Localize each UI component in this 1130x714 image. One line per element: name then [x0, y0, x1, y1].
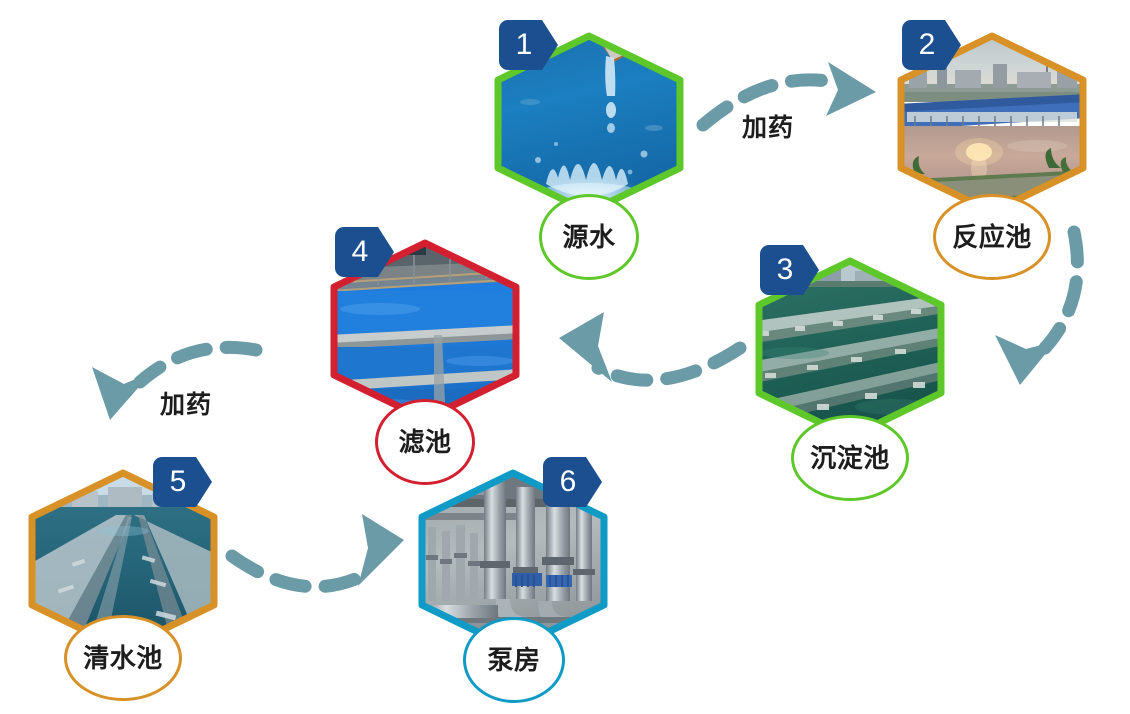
process-node-6[interactable]: 6 泵房 — [418, 455, 608, 703]
node-label-1: 源水 — [562, 224, 615, 250]
node-number-1: 1 — [498, 18, 560, 72]
node-caption-3: 沉淀池 — [791, 415, 909, 501]
process-flow-diagram: 加药 加药 — [0, 0, 1130, 714]
node-badge-3: 3 — [759, 243, 821, 297]
connector-3-to-4 — [559, 312, 740, 382]
process-node-3[interactable]: 3 沉淀池 — [755, 243, 945, 501]
node-caption-2: 反应池 — [933, 194, 1051, 280]
connector-label-dosing-2: 加药 — [160, 385, 212, 421]
node-badge-1: 1 — [498, 18, 560, 72]
process-node-5[interactable]: 5 清水池 — [28, 455, 218, 701]
node-number-5: 5 — [152, 455, 214, 509]
process-node-1[interactable]: 1 源水 — [494, 18, 684, 280]
node-label-4: 滤池 — [398, 429, 451, 455]
node-caption-6: 泵房 — [463, 617, 565, 703]
node-number-4: 4 — [334, 225, 396, 279]
node-badge-5: 5 — [152, 455, 214, 509]
node-caption-5: 清水池 — [64, 615, 182, 701]
node-badge-6: 6 — [542, 455, 604, 509]
node-caption-1: 源水 — [539, 194, 639, 280]
node-badge-2: 2 — [901, 18, 963, 72]
node-number-3: 3 — [759, 243, 821, 297]
node-badge-4: 4 — [334, 225, 396, 279]
connector-5-to-6 — [232, 514, 404, 587]
node-label-2: 反应池 — [952, 224, 1032, 250]
process-node-4[interactable]: 4 滤池 — [330, 225, 520, 485]
node-number-2: 2 — [901, 18, 963, 72]
node-number-6: 6 — [542, 455, 604, 509]
node-label-3: 沉淀池 — [810, 445, 890, 471]
process-node-2[interactable]: 2 反应池 — [897, 18, 1087, 280]
connector-label-dosing-1: 加药 — [742, 108, 794, 144]
node-label-6: 泵房 — [487, 647, 540, 673]
node-label-5: 清水池 — [83, 645, 163, 671]
